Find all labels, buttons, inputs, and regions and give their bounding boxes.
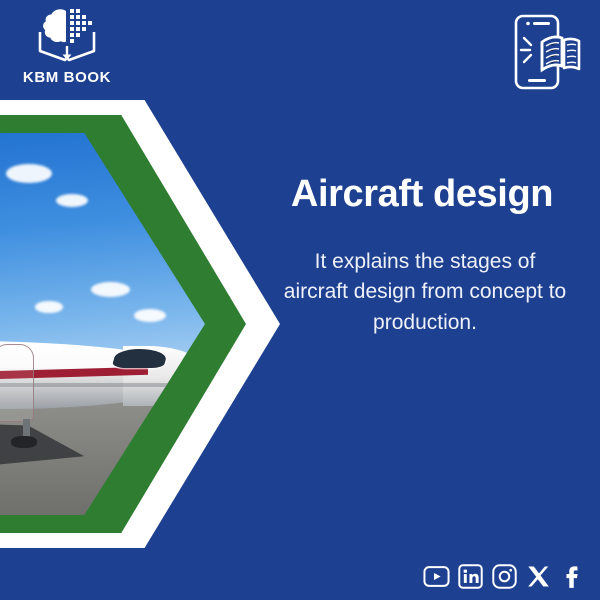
instagram-icon[interactable] xyxy=(491,563,518,590)
hexagon-photo-frame xyxy=(0,100,280,548)
x-twitter-icon[interactable] xyxy=(525,563,552,590)
facebook-icon[interactable] xyxy=(559,563,586,590)
social-post-canvas: KBM BOOK xyxy=(0,0,600,600)
brain-book-pixel-icon xyxy=(34,6,100,64)
social-links-bar xyxy=(423,563,586,590)
description-text: It explains the stages of aircraft desig… xyxy=(282,247,568,338)
brand-logo[interactable]: KBM BOOK xyxy=(12,6,122,86)
youtube-icon[interactable] xyxy=(423,563,450,590)
linkedin-icon[interactable] xyxy=(457,563,484,590)
smartphone-open-book-icon xyxy=(502,12,582,92)
brand-name: KBM BOOK xyxy=(23,69,111,86)
page-title: Aircraft design xyxy=(262,175,582,215)
